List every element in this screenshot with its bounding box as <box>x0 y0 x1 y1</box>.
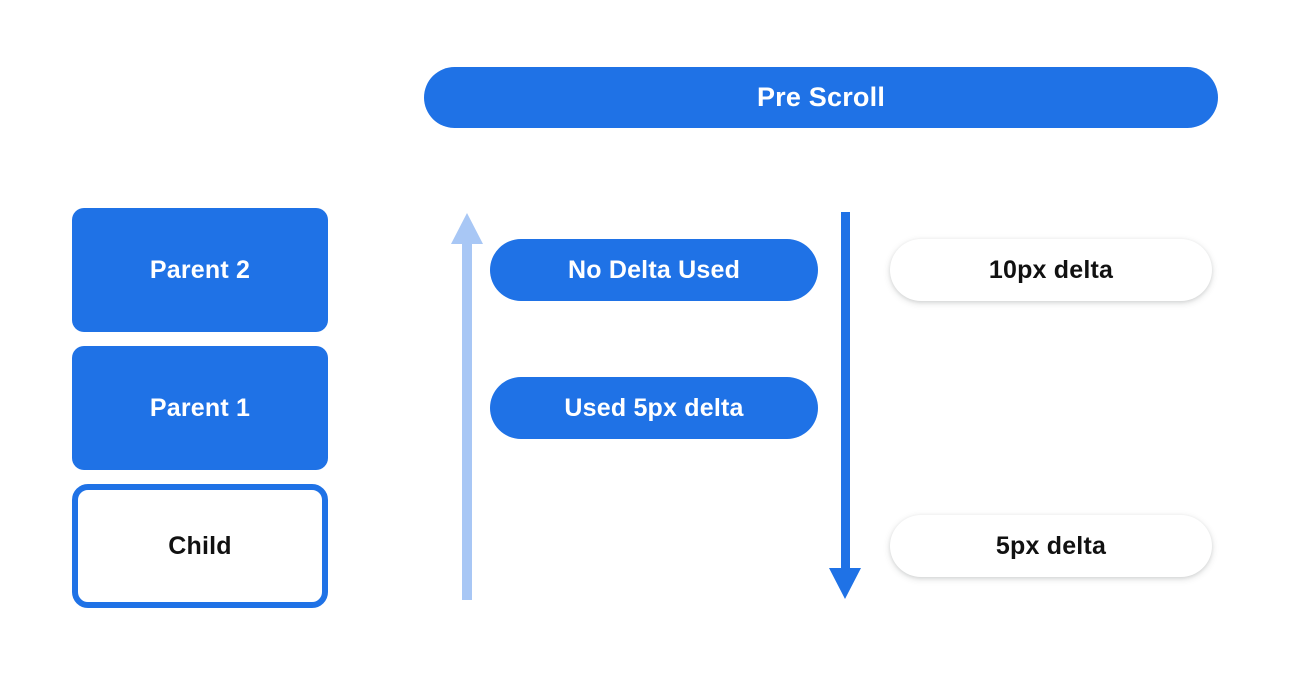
stack-box-parent-2-label: Parent 2 <box>150 256 250 285</box>
pre-scroll-header-label: Pre Scroll <box>757 82 885 113</box>
stack-box-parent-1-label: Parent 1 <box>150 394 250 423</box>
pill-no-delta-used-label: No Delta Used <box>568 256 740 285</box>
view-hierarchy-stack: Parent 2 Parent 1 Child <box>72 208 328 608</box>
stack-box-parent-1: Parent 1 <box>72 346 328 470</box>
scroll-down-arrow <box>825 208 865 604</box>
pill-5px-delta-label: 5px delta <box>996 532 1106 561</box>
pill-10px-delta: 10px delta <box>890 239 1212 301</box>
stack-box-parent-2: Parent 2 <box>72 208 328 332</box>
scroll-up-arrow <box>447 208 487 604</box>
stack-box-child: Child <box>72 484 328 608</box>
pill-no-delta-used: No Delta Used <box>490 239 818 301</box>
pill-used-5px-delta: Used 5px delta <box>490 377 818 439</box>
pill-5px-delta: 5px delta <box>890 515 1212 577</box>
diagram-canvas: Pre Scroll Parent 2 Parent 1 Child No De… <box>0 0 1312 680</box>
pre-scroll-header-pill: Pre Scroll <box>424 67 1218 128</box>
stack-box-child-label: Child <box>168 532 232 561</box>
pill-10px-delta-label: 10px delta <box>989 256 1113 285</box>
pill-used-5px-delta-label: Used 5px delta <box>564 394 743 423</box>
